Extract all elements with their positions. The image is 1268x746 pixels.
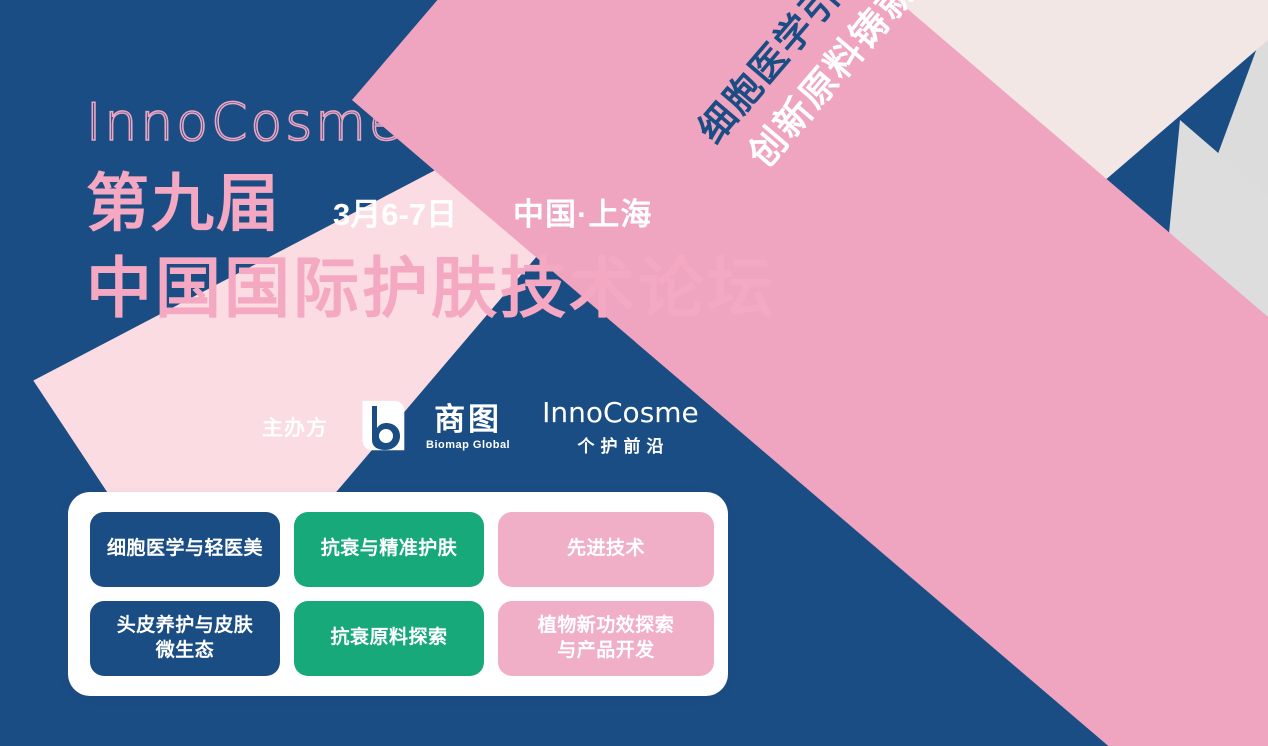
headline-block: InnoCosme 2025 第九届 3月6-7日 中国·上海 中国国际护肤技术… xyxy=(86,96,906,324)
topic-tag[interactable]: 植物新功效探索与产品开发 xyxy=(498,601,714,676)
topic-tag[interactable]: 头皮养护与皮肤微生态 xyxy=(90,601,280,676)
biomap-name-en: Biomap Global xyxy=(426,439,510,451)
innocosme-name-en: InnoCosme xyxy=(542,398,699,429)
topic-tag[interactable]: 抗衰原料探索 xyxy=(294,601,484,676)
organizer-label: 主办方 xyxy=(262,412,328,442)
event-brand-year: InnoCosme 2025 xyxy=(86,96,906,151)
topic-tag[interactable]: 先进技术 xyxy=(498,512,714,587)
innocosme-name-cn: 个护前沿 xyxy=(571,432,669,457)
biomap-name-cn: 商图 xyxy=(434,404,502,437)
topic-tag[interactable]: 细胞医学与轻医美 xyxy=(90,512,280,587)
title-row: 第九届 3月6-7日 中国·上海 xyxy=(86,173,906,236)
event-date: 3月6-7日 xyxy=(333,199,457,230)
biomap-wordmark: 商图 Biomap Global xyxy=(426,404,510,451)
event-title: 中国国际护肤技术论坛 xyxy=(86,252,906,325)
event-session-number: 第九届 xyxy=(86,173,281,236)
innocosme-wordmark: InnoCosme 个护前沿 xyxy=(542,398,699,457)
biomap-logo-icon xyxy=(358,400,412,454)
topic-tag[interactable]: 抗衰与精准护肤 xyxy=(294,512,484,587)
organizer-lockup: 主办方 商图 Biomap Global InnoCosme 个护前沿 xyxy=(262,398,699,457)
topic-tag-card: 细胞医学与轻医美抗衰与精准护肤先进技术头皮养护与皮肤微生态抗衰原料探索植物新功效… xyxy=(68,492,728,696)
event-location: 中国·上海 xyxy=(513,199,652,230)
event-banner: 细胞医学引领抗衰新纪元 创新原料铸就功效护肤新篇章 InnoCosme 2025… xyxy=(0,0,1268,746)
